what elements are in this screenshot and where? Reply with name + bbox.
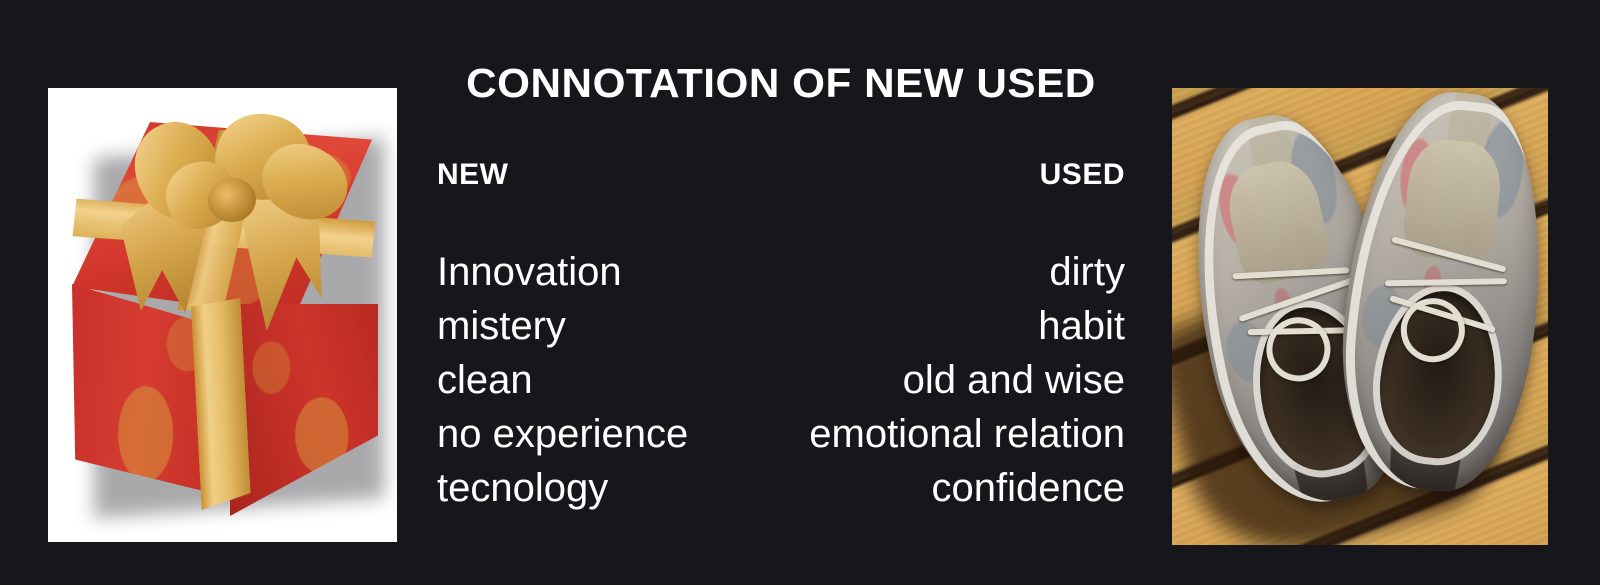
new-term: no experience bbox=[437, 414, 688, 454]
used-term: confidence bbox=[932, 468, 1125, 508]
new-term: clean bbox=[437, 360, 533, 400]
connotation-list: Innovation dirty mistery habit clean old… bbox=[437, 252, 1125, 522]
gift-box-photo bbox=[48, 88, 397, 542]
column-header-new: NEW bbox=[437, 158, 509, 192]
new-term: tecnology bbox=[437, 468, 608, 508]
list-item: Innovation dirty bbox=[437, 252, 1125, 306]
new-term: Innovation bbox=[437, 252, 622, 292]
page-title: CONNOTATION OF NEW USED bbox=[427, 60, 1136, 107]
list-item: no experience emotional relation bbox=[437, 414, 1125, 468]
list-item: tecnology confidence bbox=[437, 468, 1125, 522]
new-term: mistery bbox=[437, 306, 566, 346]
column-headers: NEW USED bbox=[437, 158, 1125, 192]
list-item: mistery habit bbox=[437, 306, 1125, 360]
text-content: CONNOTATION OF NEW USED NEW USED Innovat… bbox=[437, 0, 1125, 585]
used-term: habit bbox=[1038, 306, 1125, 346]
column-header-used: USED bbox=[1040, 158, 1125, 192]
used-term: dirty bbox=[1049, 252, 1125, 292]
used-term: old and wise bbox=[903, 360, 1125, 400]
slide-canvas: CONNOTATION OF NEW USED NEW USED Innovat… bbox=[0, 0, 1600, 585]
list-item: clean old and wise bbox=[437, 360, 1125, 414]
used-term: emotional relation bbox=[809, 414, 1125, 454]
gift-box-illustration bbox=[48, 88, 397, 542]
used-shoes-photo bbox=[1172, 88, 1548, 545]
